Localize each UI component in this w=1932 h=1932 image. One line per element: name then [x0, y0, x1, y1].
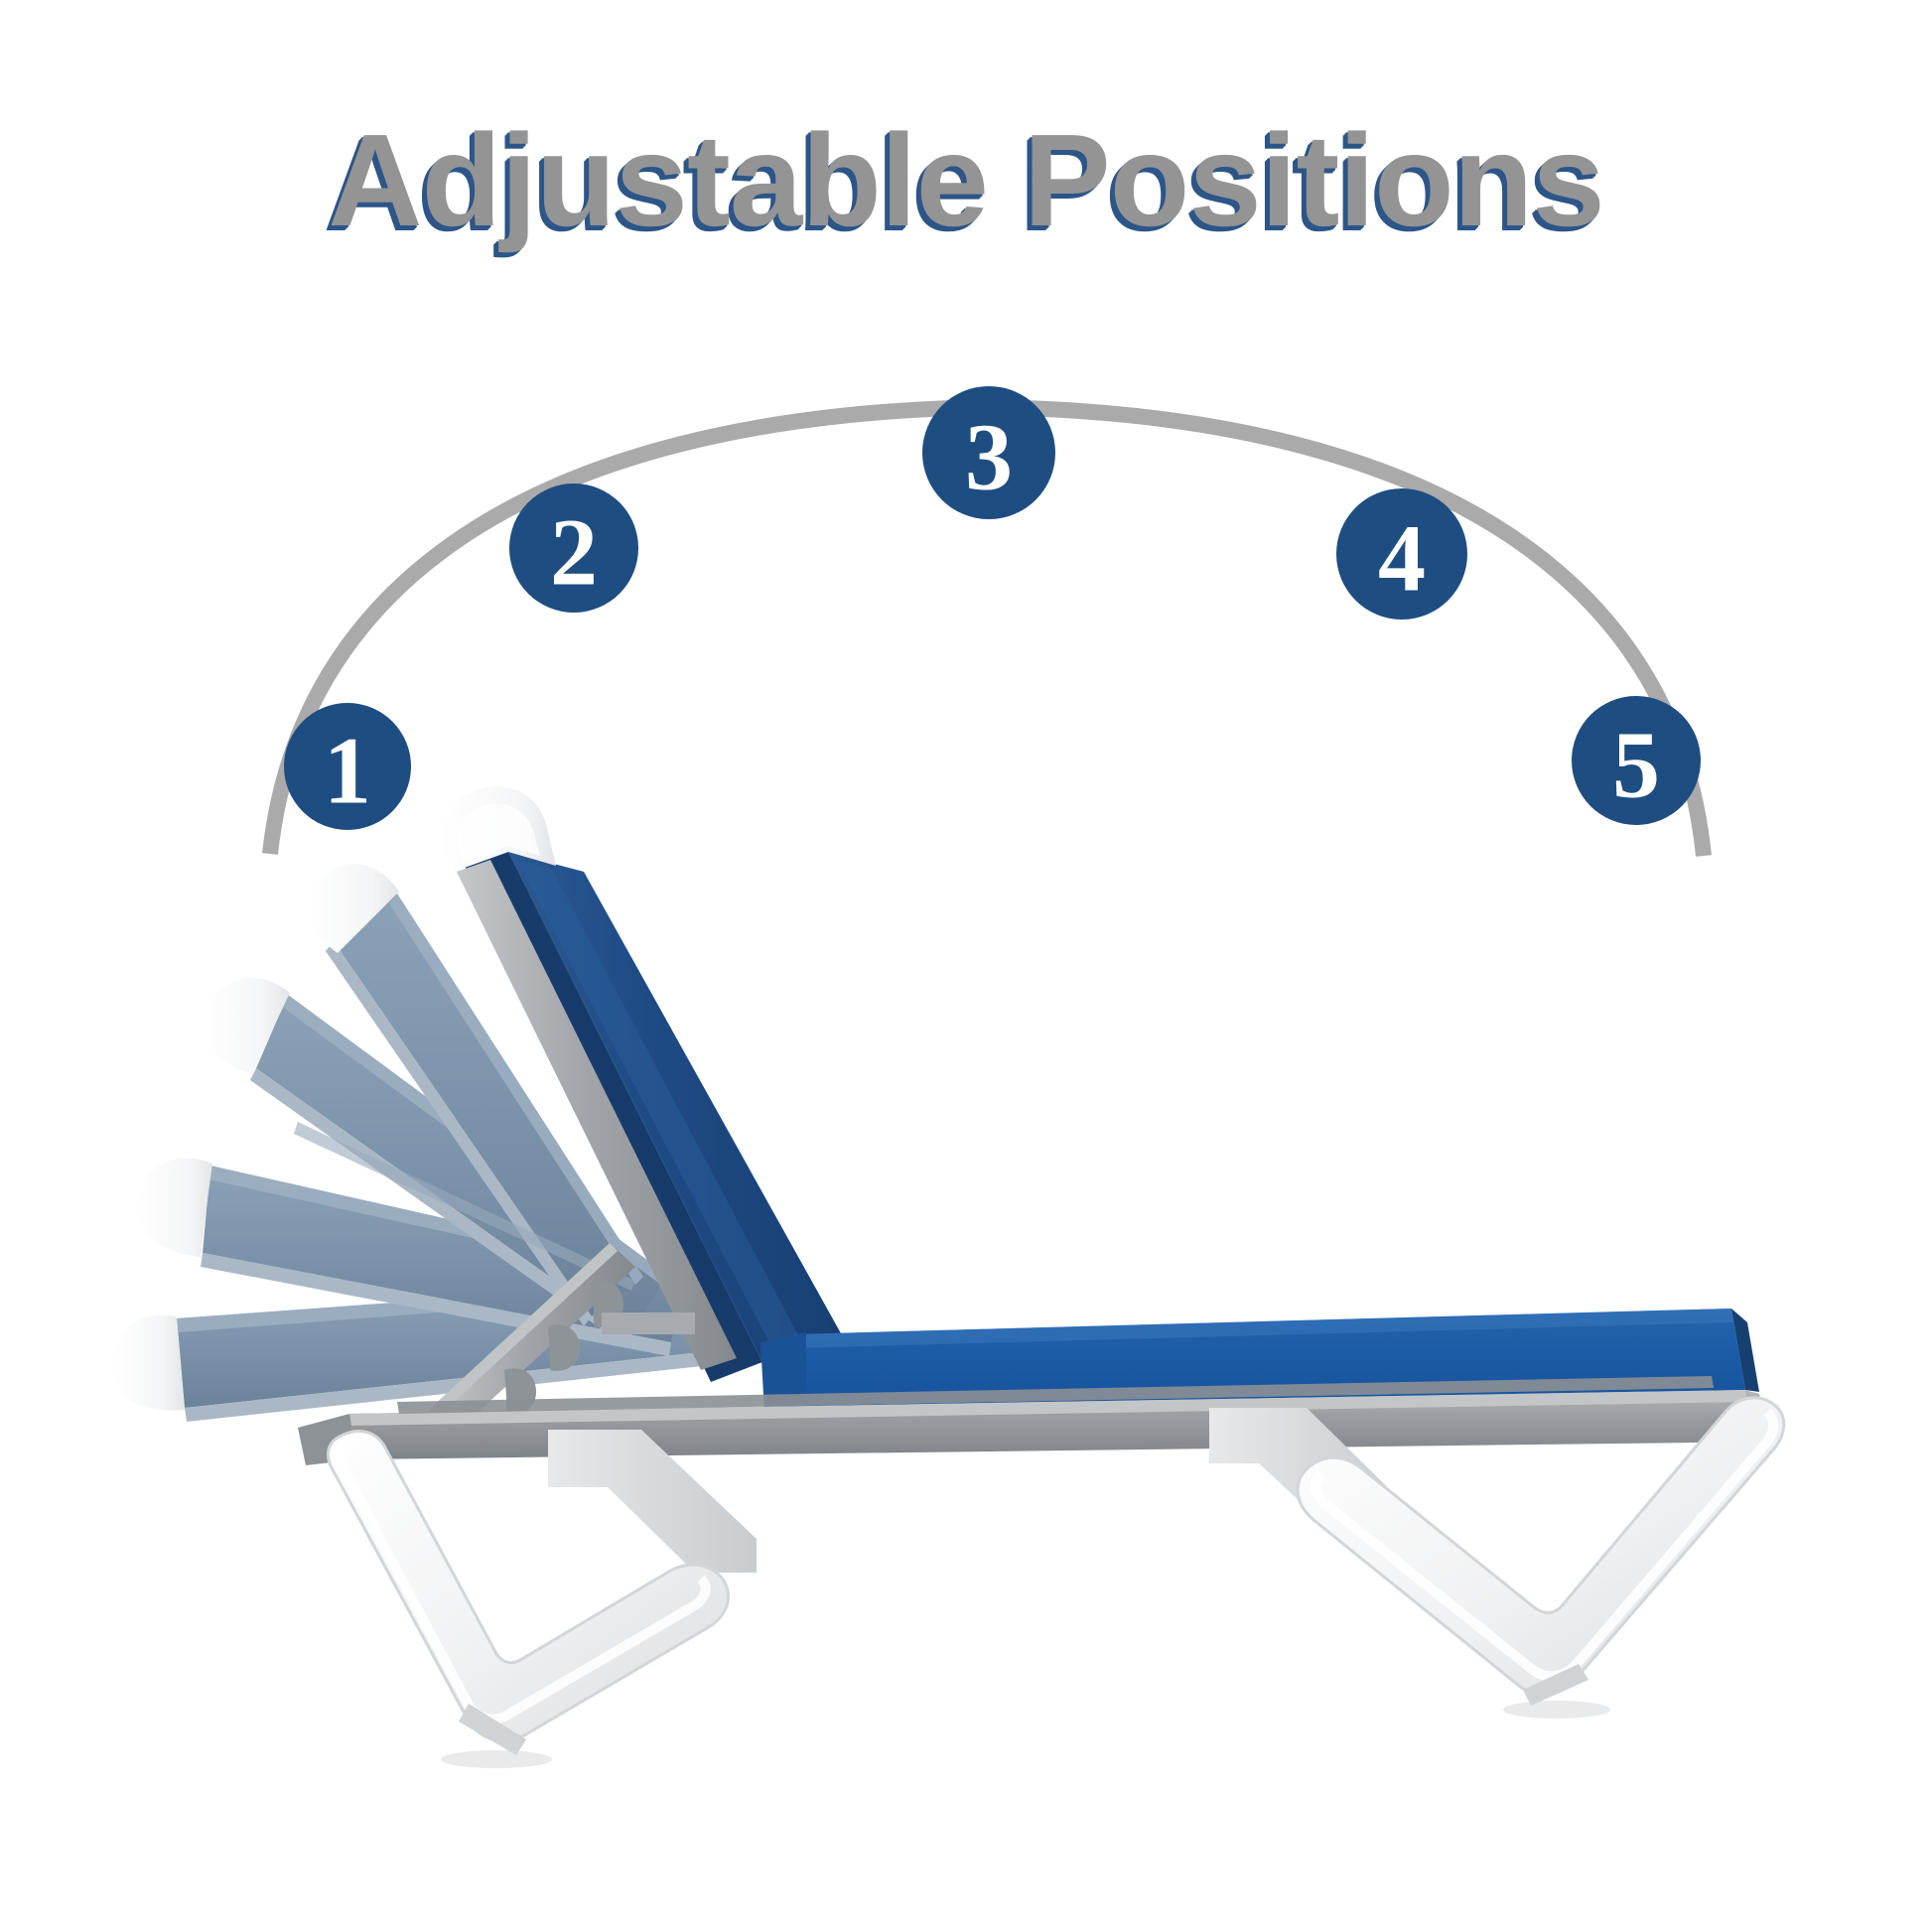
position-badge-5[interactable]: 5	[1572, 696, 1701, 825]
pivot-bracket	[602, 1312, 695, 1334]
endcap	[137, 1159, 212, 1257]
badge-label: 3	[965, 404, 1013, 510]
shadow-left-foot	[441, 1750, 552, 1768]
chaise-lounge-illustration	[113, 786, 1784, 1768]
position-badge-2[interactable]: 2	[509, 483, 638, 613]
position-badge-4[interactable]: 4	[1336, 488, 1467, 620]
position-badge-3[interactable]: 3	[922, 386, 1055, 519]
badge-label: 4	[1378, 505, 1426, 612]
position-badge-1[interactable]: 1	[284, 703, 411, 830]
infographic-canvas: Adjustable Positions	[0, 0, 1932, 1932]
badge-label: 5	[1612, 712, 1660, 818]
position-badges: 1 2 3 4 5	[284, 386, 1701, 830]
adjustable-positions-diagram: 1 2 3 4 5	[0, 0, 1932, 1932]
badge-label: 1	[324, 718, 371, 824]
badge-label: 2	[550, 499, 598, 606]
shadow-right-foot	[1503, 1701, 1610, 1719]
endcap	[113, 1315, 185, 1411]
